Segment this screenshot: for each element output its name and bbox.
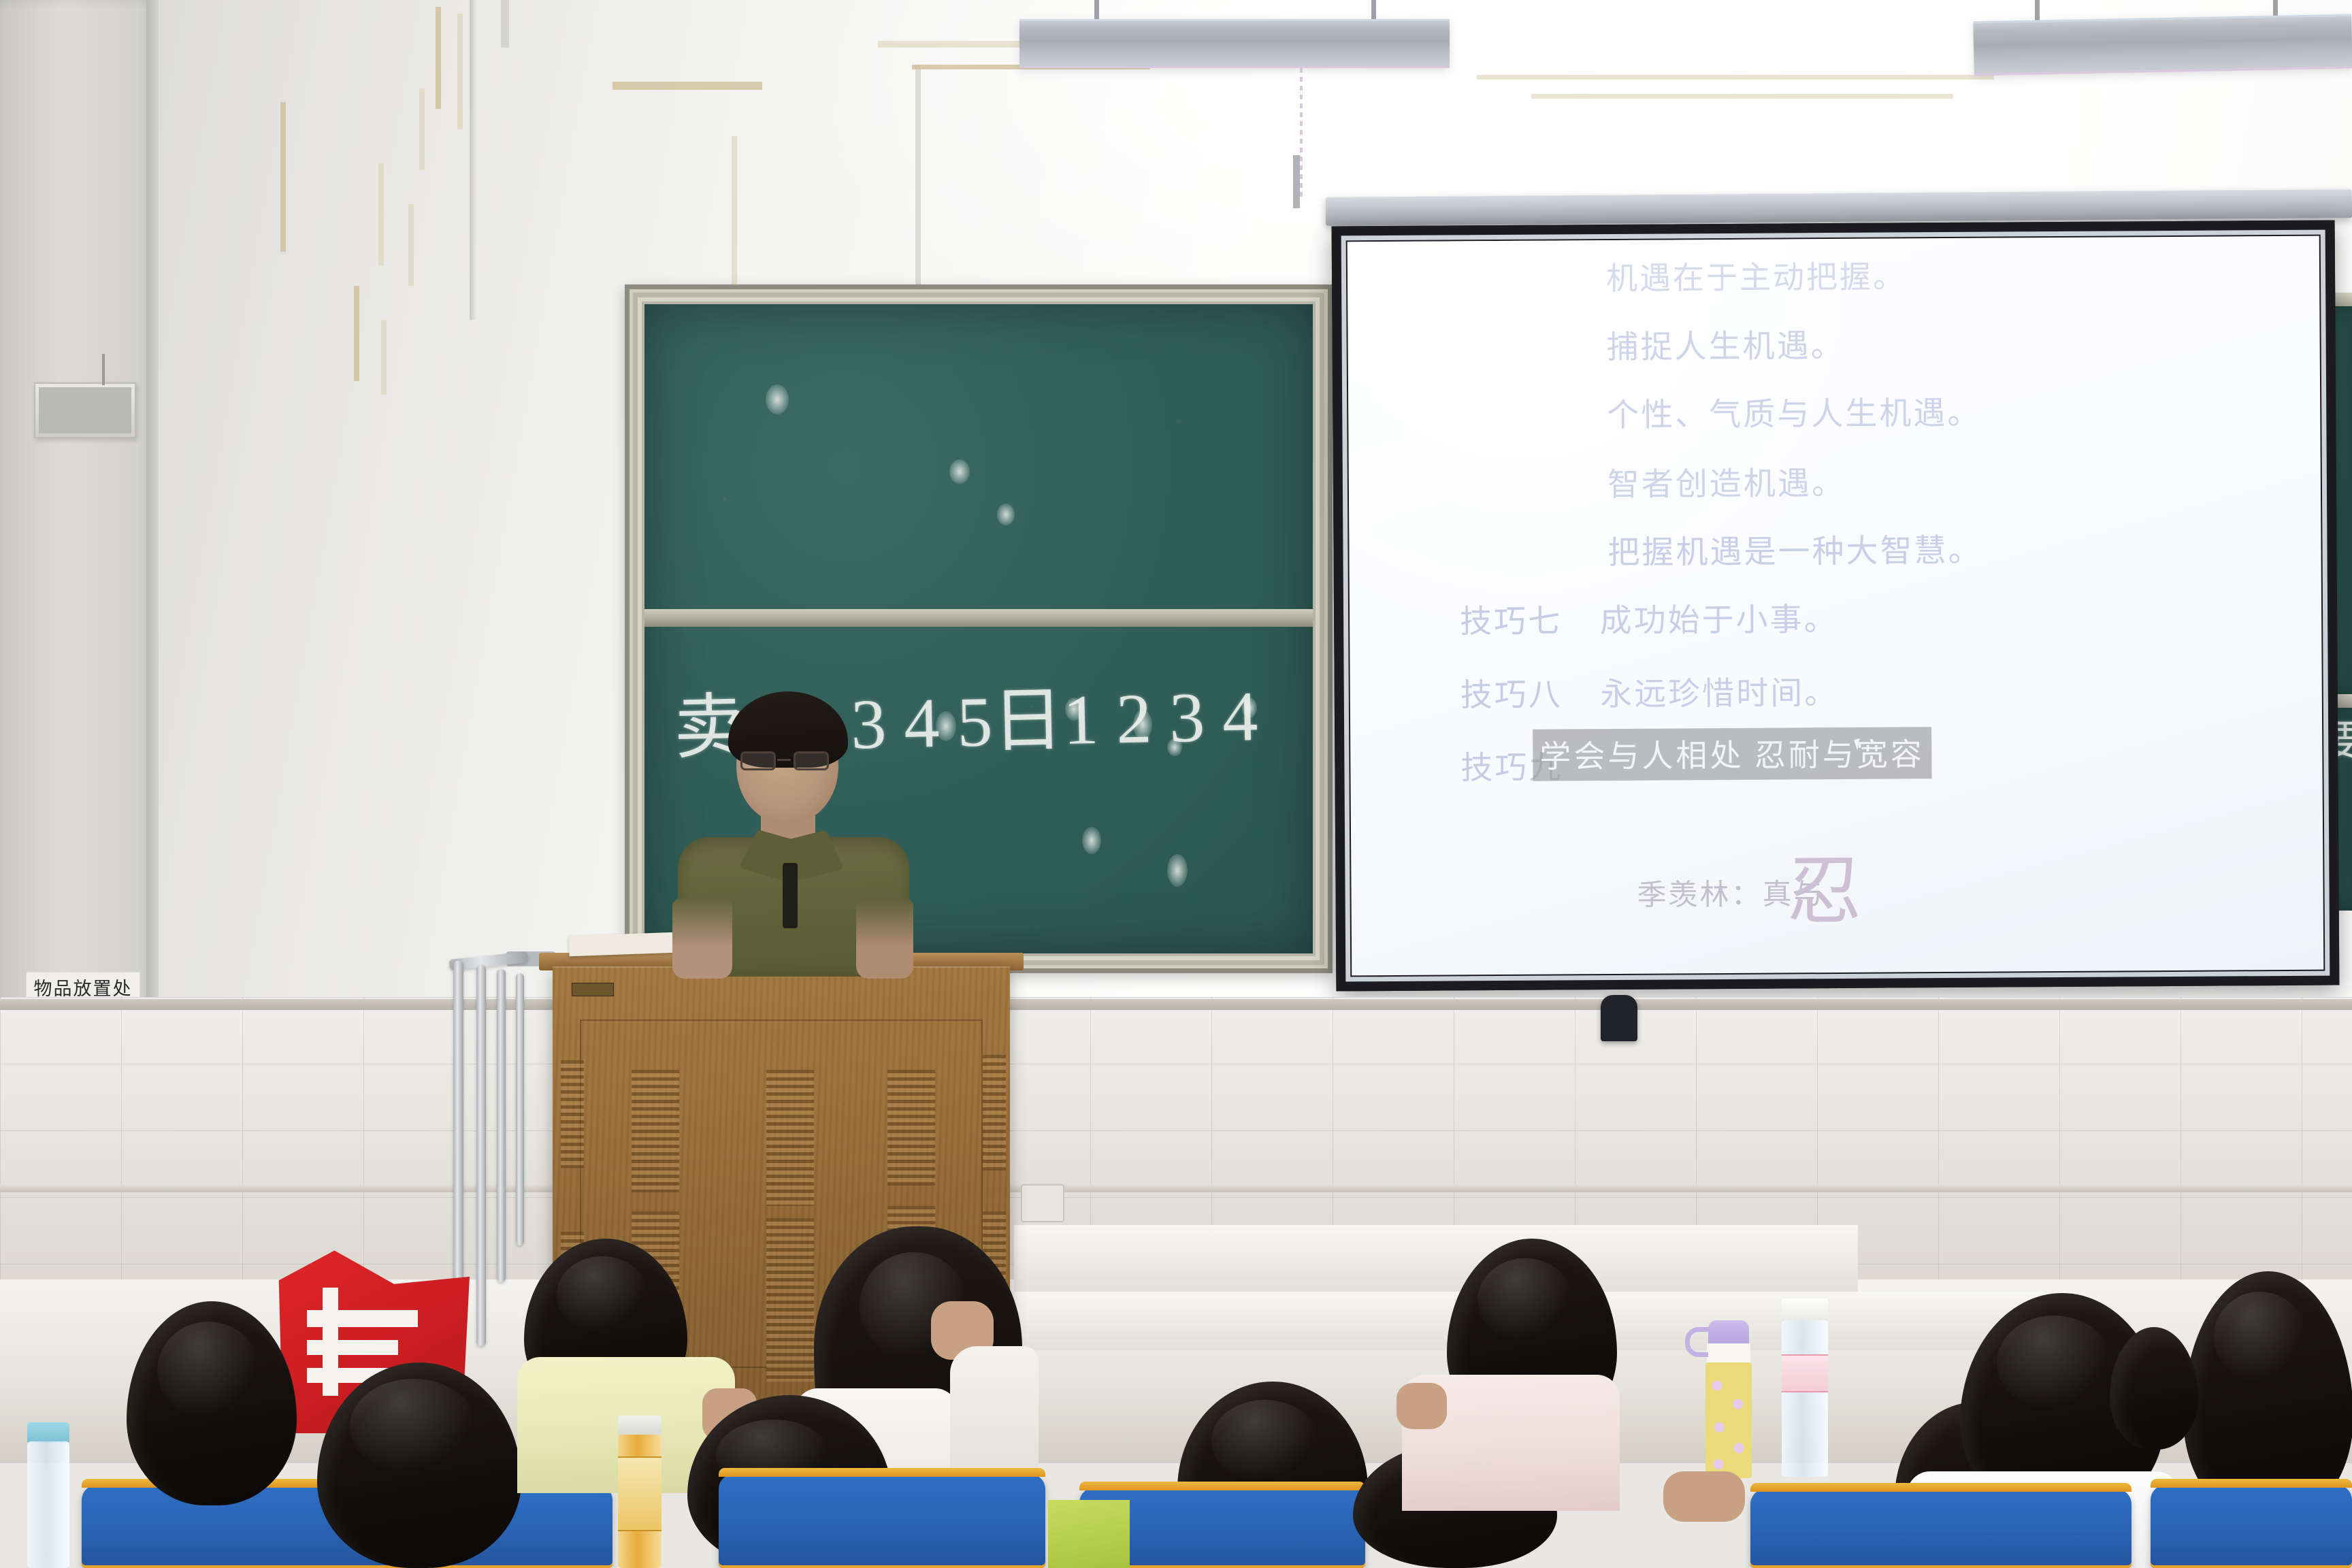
hair-sheen [157,1322,259,1420]
chalk-smudge [949,459,970,484]
railing-post [516,973,524,1245]
teacher-shirt-placket [783,863,798,928]
tape-mark [1531,94,1953,99]
bottle-label [1782,1354,1828,1392]
stage-trim-upper [0,999,2352,1010]
slide-item-8: 技巧八 永远珍惜时间。 [1460,666,1839,715]
tape-mark [457,14,463,129]
glasses-lens-left [740,751,776,770]
railing-post [476,965,486,1346]
chair-back[interactable] [1750,1489,2131,1568]
left-pillar-edge [146,0,159,1021]
tape-mark [381,320,387,395]
left-pillar [0,0,158,1021]
tape-mark [419,88,425,170]
student-hand [1663,1471,1745,1522]
chalk-smudge [1167,854,1188,887]
student-sleeve [950,1346,1039,1480]
thermos-lid [1708,1320,1749,1345]
lectern-side-vent [983,1055,1006,1171]
chalk-smudge [766,385,789,414]
ceiling-light-fixture [1973,14,2352,76]
ceiling-light-fixture [1019,19,1450,68]
classroom-photo: 物品放置处 卖1 2 3 4 5日1 2 3 4 要 机遇在于主动把握。 捕捉人… [0,0,2352,1568]
juice-bottle [618,1416,661,1568]
railing-post [497,969,506,1282]
thermos-strap [1685,1327,1708,1357]
lectern-vent [766,1070,814,1206]
hair-sheen [1477,1258,1573,1341]
tape-mark [378,163,384,265]
slide-item-8-text: 永远珍惜时间。 [1600,676,1838,713]
slide-item-8-number: 技巧八 [1460,668,1563,715]
wall-speaker-icon [34,382,136,438]
water-bottle [1782,1298,1828,1477]
projection-screen: 机遇在于主动把握。 捕捉人生机遇。 个性、气质与人生机遇。 智者创造机遇。 把握… [1332,220,2340,992]
bottle-cap [618,1416,661,1436]
slide-item-7-number: 技巧七 [1460,594,1562,642]
chair-back[interactable] [2151,1485,2352,1568]
slide-item-7: 技巧七 成功始于小事。 [1460,593,1838,642]
hair-sheen [1997,1316,2111,1410]
bottle-body [27,1441,69,1568]
thermos-body [1705,1362,1752,1478]
lectern-vent [766,1218,814,1382]
slide-selected-text[interactable]: 学会与人相处 忍耐与宽容 [1533,727,1931,781]
bag-print-mark [307,1340,398,1355]
hair-sheen [2214,1292,2306,1382]
stage-step [1014,1225,1858,1293]
wall-cable [102,354,105,385]
camera-icon [1601,995,1637,1041]
bottle-body [1782,1320,1828,1477]
screen-hanger [1293,155,1300,208]
bottle-label [618,1456,661,1531]
glasses-lens-right [794,751,829,770]
chalk-smudge [997,504,1015,525]
lectern-vent [887,1070,935,1186]
thermos-bottle [1704,1320,1753,1478]
slide-line-3: 个性、气质与人生机遇。 [1607,387,1981,436]
tape-mark [732,136,737,293]
thermos-collar [1707,1343,1750,1364]
slide-big-character: 忍 [1786,830,1862,939]
bottle-cap [1782,1298,1828,1322]
slide-line-1: 机遇在于主动把握。 [1606,252,1906,299]
tape-mark [878,41,1034,48]
hair-sheen [350,1379,476,1473]
projected-slide: 机遇在于主动把握。 捕捉人生机遇。 个性、气质与人生机遇。 智者创造机遇。 把握… [1347,236,2324,976]
tape-mark [915,65,921,296]
teacher-right-arm [856,898,913,979]
wall-pillar-edge [470,0,476,320]
blackboard-chalk-ledge [644,609,1313,627]
tape-mark [612,82,762,90]
power-outlet-icon [1021,1184,1064,1222]
tape-mark [280,102,286,252]
bag-print-mark [323,1288,338,1396]
slide-line-5: 把握机遇是一种大智慧。 [1607,524,1982,573]
tape-mark [1477,75,1994,80]
glasses-bridge [777,759,791,761]
light-pull-chain [1300,68,1303,197]
hair-sheen [1211,1400,1318,1482]
hair-sheen [557,1256,648,1333]
slide-line-4: 智者创造机遇。 [1607,457,1846,505]
lectern-side-vent [561,1060,584,1169]
tape-mark [354,286,359,381]
teacher-glasses [740,751,834,772]
student-hand [1396,1383,1447,1429]
chair-back[interactable] [719,1474,1045,1568]
wall-speaker-face [39,387,131,434]
teacher-left-arm [672,898,732,979]
bottle-cap [27,1422,69,1443]
tape-mark [408,204,414,286]
lectern-nameplate [572,983,614,996]
slide-item-7-text: 成功始于小事。 [1599,602,1837,639]
teacher [674,694,912,973]
lectern-vent [632,1070,679,1192]
water-bottle [27,1422,69,1568]
stage-trim-mid [0,1184,2352,1192]
chalk-smudge [1082,827,1101,854]
tape-mark [436,7,441,109]
slide-line-2: 捕捉人生机遇。 [1606,319,1844,367]
tape-mark [501,0,509,48]
green-bag [1048,1500,1130,1568]
